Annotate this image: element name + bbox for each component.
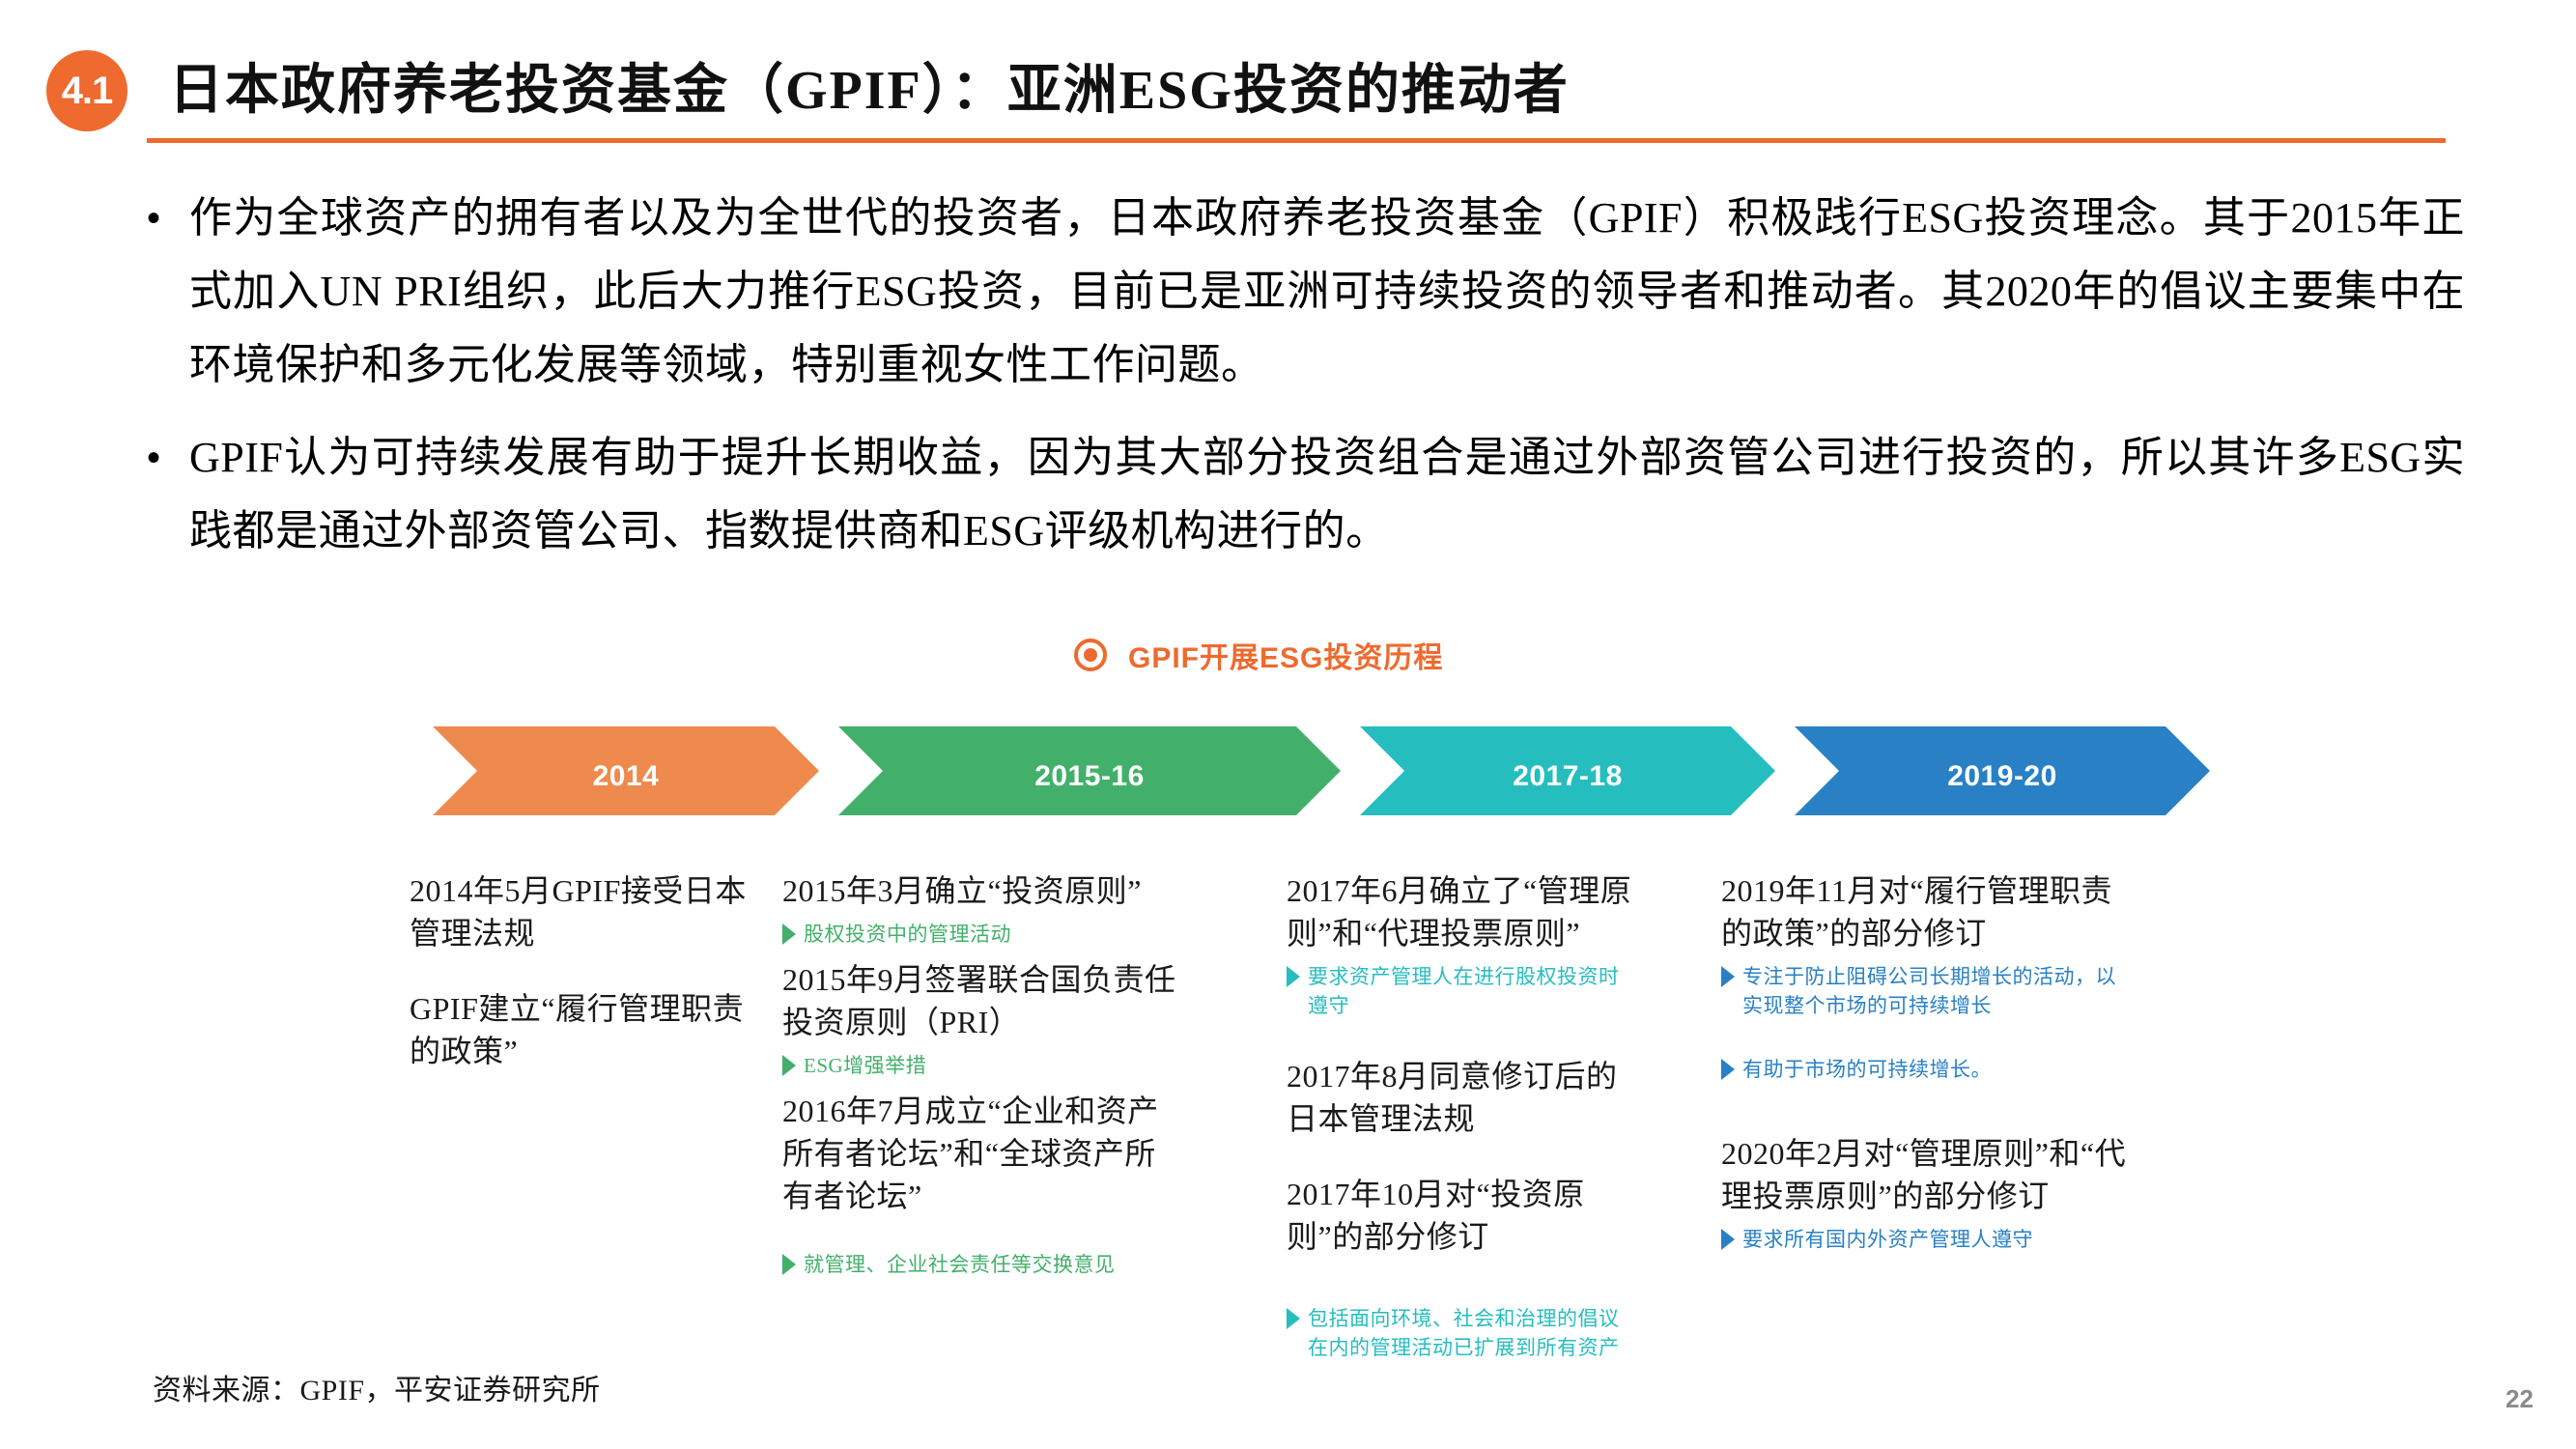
bullet-lead-text: 作为全球资产的拥有者以及为全世代的投资者，日本政府养老投资基金（GPIF）积极践… xyxy=(189,194,2203,241)
timeline-phase-label: 2015-16 xyxy=(1034,760,1145,793)
timeline-subnote: 有助于市场的可持续增长。 xyxy=(1721,1055,2137,1084)
timeline-subnote: ESG增强举措 xyxy=(782,1051,1178,1080)
spacer xyxy=(410,962,767,987)
timeline-event-text: 2015年3月确立“投资原则” xyxy=(782,869,1178,912)
section-number-badge: 4.1 xyxy=(46,50,127,131)
timeline-phase-label: 2014 xyxy=(593,760,660,793)
timeline-phase-chevron: 2015-16 xyxy=(838,726,1341,815)
page-number: 22 xyxy=(2505,1384,2534,1414)
target-icon xyxy=(1074,639,1107,671)
timeline-column: 2015年3月确立“投资原则”股权投资中的管理活动2015年9月签署联合国负责任… xyxy=(782,869,1178,1289)
timeline-event-text: 2016年7月成立“企业和资产所有者论坛”和“全球资产所有者论坛” xyxy=(782,1090,1178,1217)
timeline-event-text: 2015年9月签署联合国负责任投资原则（PRI） xyxy=(782,958,1178,1043)
triangle-bullet-icon xyxy=(1287,1308,1300,1329)
source-note: 资料来源：GPIF，平安证券研究所 xyxy=(153,1366,601,1408)
triangle-bullet-icon xyxy=(1721,1229,1735,1250)
spacer xyxy=(782,1225,1178,1250)
bullet-body: GPIF认为可持续发展有助于提升长期收益，因为其大部分投资组合是通过外部资管公司… xyxy=(189,421,2465,568)
timeline-subnote-text: 包括面向环境、社会和治理的倡议在内的管理活动已扩展到所有资产 xyxy=(1308,1304,1639,1362)
timeline-subnote-text: 专注于防止阻碍公司长期增长的活动，以实现整个市场的可持续增长 xyxy=(1742,962,2137,1020)
timeline-phase-chevron: 2017-18 xyxy=(1360,726,1775,815)
bullet-item: • GPIF认为可持续发展有助于提升长期收益，因为其大部分投资组合是通过外部资管… xyxy=(147,421,2465,568)
page-title: 日本政府养老投资基金（GPIF）：亚洲ESG投资的推动者 xyxy=(169,46,1570,125)
timeline-column: 2017年6月确立了“管理原则”和“代理投票原则”要求资产管理人在进行股权投资时… xyxy=(1287,869,1639,1372)
timeline-event-text: 2017年10月对“投资原则”的部分修订 xyxy=(1287,1173,1639,1258)
triangle-bullet-icon xyxy=(782,1254,796,1275)
timeline-column: 2014年5月GPIF接受日本管理法规GPIF建立“履行管理职责的政策” xyxy=(410,869,767,1080)
timeline-subnote: 要求所有国内外资产管理人遵守 xyxy=(1721,1225,2137,1254)
timeline-subnote-text: 股权投资中的管理活动 xyxy=(804,920,1011,949)
timeline-subnote: 就管理、企业社会责任等交换意见 xyxy=(782,1250,1178,1279)
triangle-bullet-icon xyxy=(1721,966,1735,987)
timeline-phase-chevron: 2014 xyxy=(433,726,819,815)
triangle-bullet-icon xyxy=(1287,966,1300,987)
timeline-subnote: 专注于防止阻碍公司长期增长的活动，以实现整个市场的可持续增长 xyxy=(1721,962,2137,1020)
title-divider xyxy=(147,138,2446,143)
timeline-subnote-text: 要求所有国内外资产管理人遵守 xyxy=(1742,1225,2033,1254)
bullet-list: • 作为全球资产的拥有者以及为全世代的投资者，日本政府养老投资基金（GPIF）积… xyxy=(147,182,2465,587)
triangle-bullet-icon xyxy=(1721,1059,1735,1080)
bullet-rest-text: GPIF认为可持续发展有助于提升长期收益，因为其大部分投资组合是通过外部资管公司… xyxy=(189,434,2465,554)
timeline-event-text: 2017年8月同意修订后的日本管理法规 xyxy=(1287,1055,1639,1140)
timeline-phase-label: 2017-18 xyxy=(1513,760,1623,793)
bullet-body: 作为全球资产的拥有者以及为全世代的投资者，日本政府养老投资基金（GPIF）积极践… xyxy=(189,182,2465,402)
timeline-subnote: 包括面向环境、社会和治理的倡议在内的管理活动已扩展到所有资产 xyxy=(1287,1304,1639,1362)
timeline-subnote-text: 要求资产管理人在进行股权投资时遵守 xyxy=(1308,962,1639,1020)
bullet-marker-icon: • xyxy=(147,421,189,495)
timeline-phase-chevron: 2019-20 xyxy=(1795,726,2210,815)
timeline-phase-label: 2019-20 xyxy=(1947,760,2057,793)
timeline-event-text: 2019年11月对“履行管理职责的政策”的部分修订 xyxy=(1721,869,2137,954)
figure-heading: GPIF开展ESG投资历程 xyxy=(1074,634,1443,676)
triangle-bullet-icon xyxy=(782,923,796,945)
timeline-subnote: 股权投资中的管理活动 xyxy=(782,920,1178,949)
timeline-subnote-text: ESG增强举措 xyxy=(804,1051,926,1080)
figure-title: GPIF开展ESG投资历程 xyxy=(1128,634,1443,676)
timeline-event-text: GPIF建立“履行管理职责的政策” xyxy=(410,987,767,1072)
timeline-event-text: 2014年5月GPIF接受日本管理法规 xyxy=(410,869,767,954)
spacer xyxy=(1287,1030,1639,1055)
spacer xyxy=(1287,1148,1639,1173)
timeline-subnote-text: 有助于市场的可持续增长。 xyxy=(1742,1055,1992,1084)
timeline-event-text: 2017年6月确立了“管理原则”和“代理投票原则” xyxy=(1287,869,1639,954)
timeline-subnote-text: 就管理、企业社会责任等交换意见 xyxy=(804,1250,1116,1279)
timeline-event-text: 2020年2月对“管理原则”和“代理投票原则”的部分修订 xyxy=(1721,1132,2137,1217)
timeline-column: 2019年11月对“履行管理职责的政策”的部分修订专注于防止阻碍公司长期增长的活… xyxy=(1721,869,2137,1264)
spacer xyxy=(1287,1265,1639,1304)
bullet-marker-icon: • xyxy=(147,182,189,255)
spacer xyxy=(1721,1030,2137,1055)
slide-header: 4.1 日本政府养老投资基金（GPIF）：亚洲ESG投资的推动者 xyxy=(0,39,2576,145)
timeline-detail-columns: 2014年5月GPIF接受日本管理法规GPIF建立“履行管理职责的政策”2015… xyxy=(0,869,2576,1333)
timeline-subnote: 要求资产管理人在进行股权投资时遵守 xyxy=(1287,962,1639,1020)
timeline-chevrons: 20142015-162017-182019-20 xyxy=(433,726,2200,815)
spacer xyxy=(1721,1094,2137,1132)
bullet-item: • 作为全球资产的拥有者以及为全世代的投资者，日本政府养老投资基金（GPIF）积… xyxy=(147,182,2465,402)
triangle-bullet-icon xyxy=(782,1055,796,1076)
